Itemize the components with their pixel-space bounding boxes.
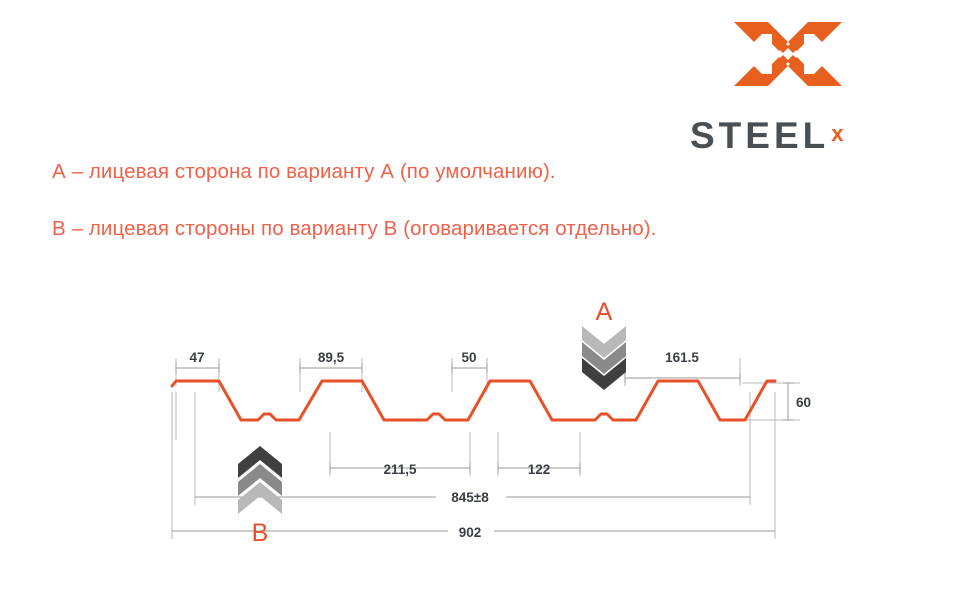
dim-label-60: 60 (796, 395, 811, 410)
dim-label-122: 122 (528, 462, 551, 477)
dimension-lines (172, 363, 793, 531)
marker-a-letter: A (596, 298, 613, 326)
marker-b-letter: B (252, 519, 269, 547)
extension-lines (172, 352, 800, 539)
dim-label-50: 50 (461, 350, 476, 365)
marker-a: A (582, 298, 626, 390)
marker-a-chevrons (582, 326, 626, 390)
drawing-page: STEEL x А – лицевая сторона по варианту … (0, 0, 970, 597)
dim-label-161-5: 161.5 (665, 350, 699, 365)
sheet-profile-path (172, 381, 775, 420)
dim-label-89-5: 89,5 (318, 350, 345, 365)
profile-technical-drawing: 47 89,5 50 161.5 211,5 122 845±8 902 60 … (0, 0, 970, 597)
dim-label-902: 902 (459, 525, 482, 540)
marker-b-chevrons (238, 446, 282, 514)
dim-label-845-pm-8: 845±8 (451, 490, 489, 505)
dim-label-47: 47 (189, 350, 204, 365)
dim-label-211-5: 211,5 (383, 462, 417, 477)
